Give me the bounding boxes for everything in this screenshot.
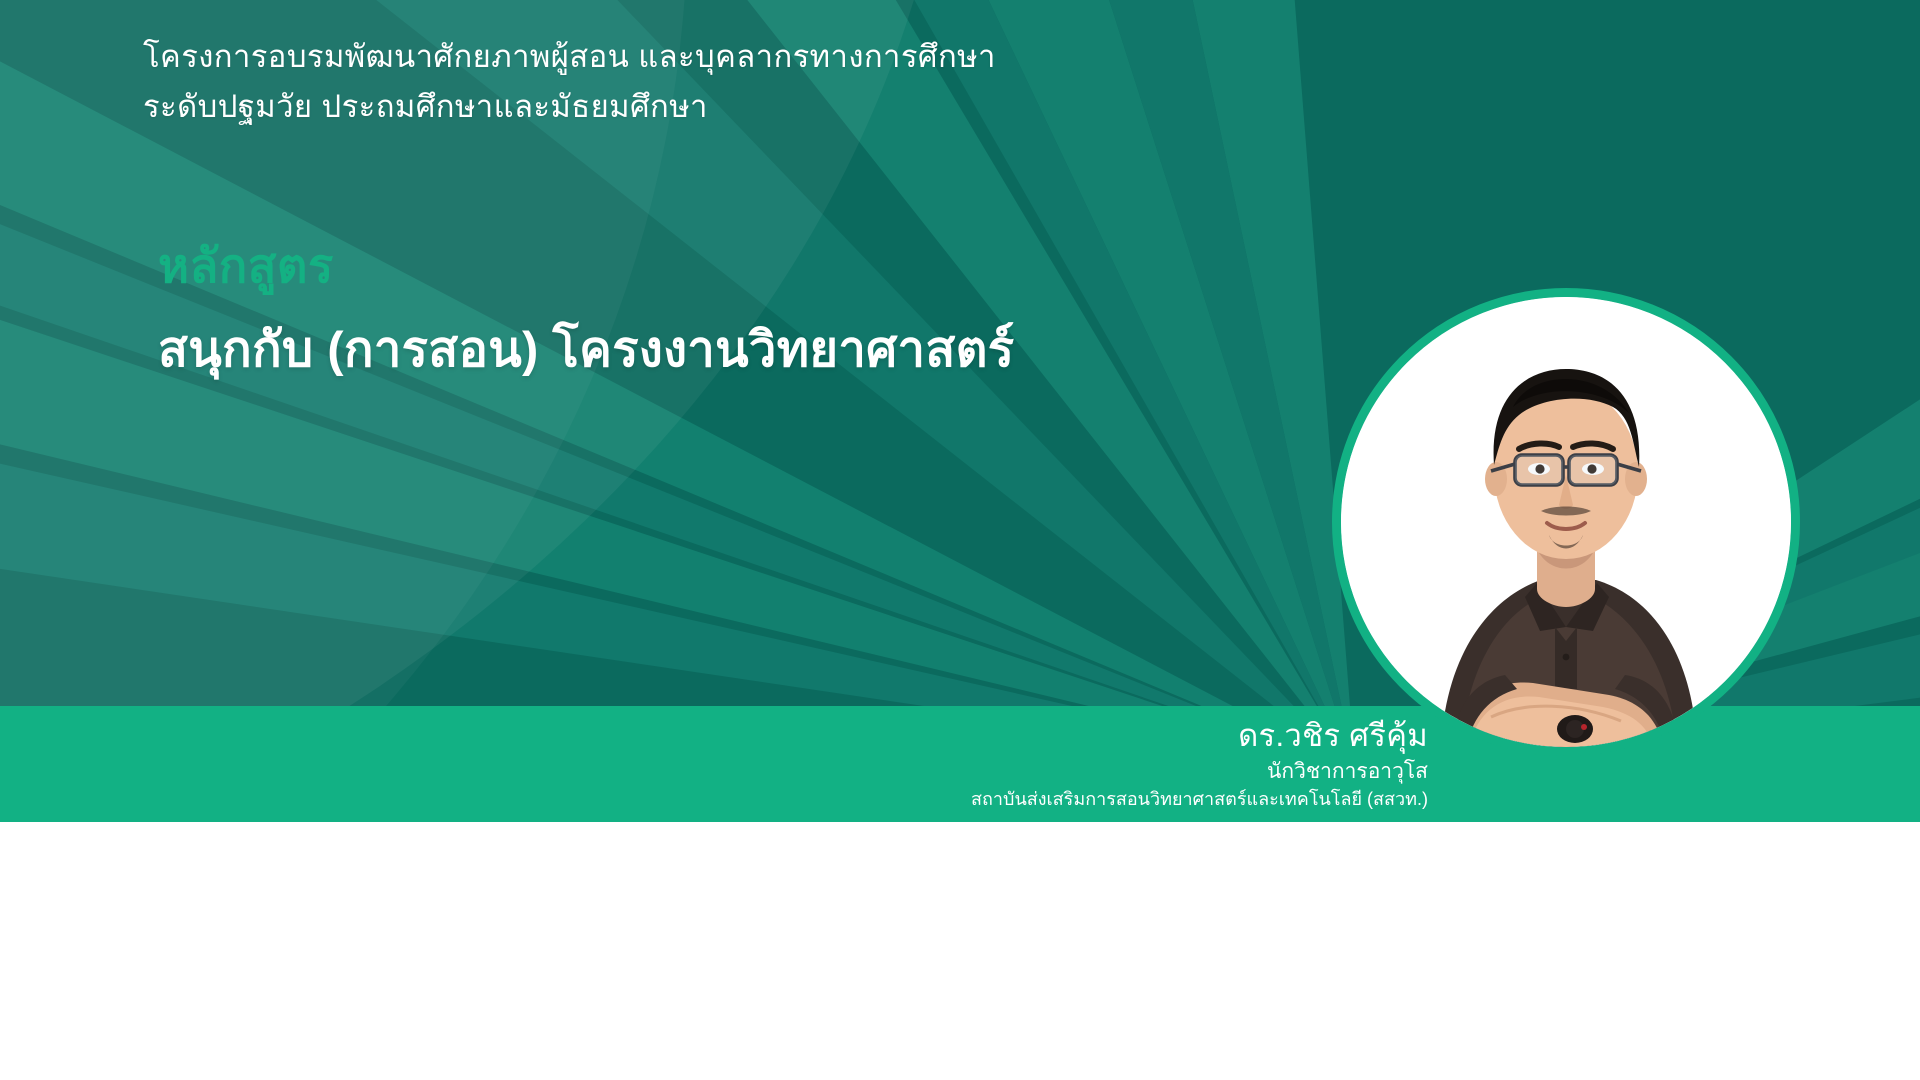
- speaker-organization: สถาบันส่งเสริมการสอนวิทยาศาสตร์และเทคโนโ…: [971, 789, 1428, 810]
- course-kicker: หลักสูตร: [158, 228, 334, 303]
- poster-footer: SAKDIBHORNSSUP FOUNDATION มูลนิธิศักดิ์พ…: [0, 822, 1920, 1080]
- event-poster: โครงการอบรมพัฒนาศักยภาพผู้สอน และบุคลากร…: [0, 0, 1920, 1080]
- poster-header: โครงการอบรมพัฒนาศักยภาพผู้สอน และบุคลากร…: [143, 32, 1303, 132]
- speaker-name: ดร.วชิร ศรีคุ้ม: [971, 718, 1428, 755]
- speaker-portrait: [1332, 288, 1800, 756]
- speaker-info: ดร.วชิร ศรีคุ้ม นักวิชาการอาวุโส สถาบันส…: [971, 718, 1428, 811]
- speaker-role: นักวิชาการอาวุโส: [971, 760, 1428, 785]
- header-line-1: โครงการอบรมพัฒนาศักยภาพผู้สอน และบุคลากร…: [143, 32, 1303, 82]
- page-title: สนุกกับ (การสอน) โครงงานวิทยาศาสตร์: [158, 310, 1014, 388]
- header-line-2: ระดับปฐมวัย ประถมศึกษาและมัธยมศึกษา: [143, 82, 1303, 132]
